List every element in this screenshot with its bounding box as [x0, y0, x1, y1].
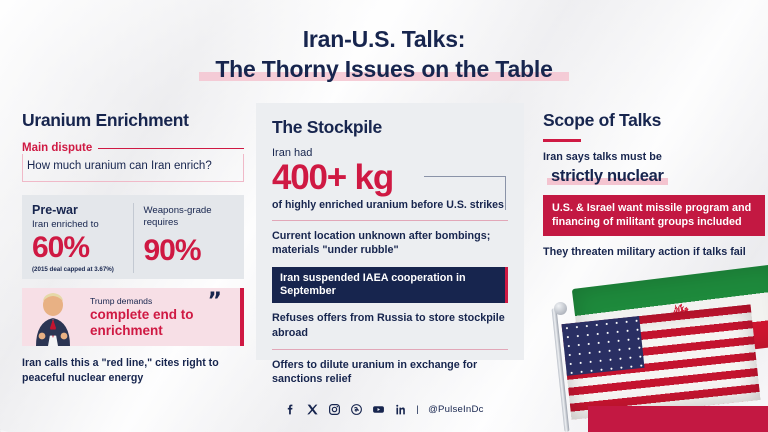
scope-heading: Scope of Talks: [543, 110, 761, 131]
trump-panel-accent-bar: [240, 288, 244, 346]
main-dispute-row: Main dispute: [22, 142, 244, 154]
title-line-2: The Thorny Issues on the Table: [215, 56, 552, 83]
scope-strong-wrapper: strictly nuclear: [551, 167, 664, 186]
main-dispute-question: How much uranium can Iran enrich?: [22, 154, 244, 182]
scope-heading-rule: [543, 139, 581, 142]
main-dispute-rule: [98, 148, 244, 149]
x-icon[interactable]: [306, 403, 319, 416]
stat-weapons-grade: Weapons-grade requires 90%: [133, 203, 245, 273]
column-stockpile: The Stockpile Iran had 400+ kg of highly…: [256, 103, 524, 360]
stat-weapons-grade-value: 90%: [144, 235, 235, 267]
stat-prewar: Pre-war Iran enriched to 60% (2015 deal …: [22, 203, 133, 273]
scope-lead: Iran says talks must be: [543, 151, 761, 163]
stockpile-item-0: Current location unknown after bombings;…: [272, 229, 508, 258]
column-uranium-enrichment: Uranium Enrichment Main dispute How much…: [22, 110, 244, 385]
footer-social-bar: | @PulseInDc: [0, 403, 768, 416]
stockpile-separator-2: [272, 349, 508, 350]
stockpile-item-1-text: Iran suspended IAEA cooperation in Septe…: [280, 272, 466, 297]
stat-prewar-key: Pre-war: [32, 203, 123, 218]
trump-demands-value: complete end to enrichment: [90, 307, 218, 338]
threads-icon[interactable]: [350, 403, 363, 416]
footer-divider: |: [416, 404, 419, 415]
linkedin-icon[interactable]: [394, 403, 407, 416]
stat-weapons-grade-sub: Weapons-grade requires: [144, 205, 235, 229]
facebook-icon[interactable]: [284, 403, 297, 416]
main-dispute-label: Main dispute: [22, 142, 92, 154]
column-scope-of-talks: Scope of Talks Iran says talks must be s…: [543, 110, 761, 260]
stockpile-separator: [272, 220, 508, 221]
scope-last-text: They threaten military action if talks f…: [543, 245, 761, 259]
trump-demands-label: Trump demands: [90, 296, 218, 306]
youtube-icon[interactable]: [372, 403, 385, 416]
scope-red-box: U.S. & Israel want missile program and f…: [543, 195, 765, 236]
stat-prewar-sub: Iran enriched to: [32, 219, 123, 231]
us-flag-canton: [562, 316, 645, 376]
stockpile-item-1-highlighted: Iran suspended IAEA cooperation in Septe…: [272, 267, 508, 304]
title-line-1: Iran-U.S. Talks:: [0, 26, 768, 53]
stockpile-bracket-line: [424, 176, 506, 210]
stockpile-item-1-accent-bar: [505, 267, 508, 304]
iran-red-line-text: Iran calls this a "red line," cites righ…: [22, 356, 244, 384]
instagram-icon[interactable]: [328, 403, 341, 416]
stockpile-heading: The Stockpile: [272, 117, 508, 138]
flag-pole-finial: [554, 302, 567, 315]
stockpile-big-number-row: 400+ kg: [272, 160, 508, 195]
trump-quote-panel: ” Trump demands complete end to enrichme…: [22, 288, 244, 346]
quote-mark-icon: ”: [208, 291, 222, 313]
stat-prewar-value: 60%: [32, 232, 123, 264]
page-title: Iran-U.S. Talks: The Thorny Issues on th…: [0, 26, 768, 83]
stockpile-item-2: Refuses offers from Russia to store stoc…: [272, 311, 508, 340]
scope-strong-text: strictly nuclear: [551, 167, 664, 185]
footer-handle[interactable]: @PulseInDc: [428, 404, 483, 415]
trump-photo: [22, 288, 84, 346]
title-line-2-wrapper: The Thorny Issues on the Table: [215, 56, 552, 83]
stat-prewar-note: (2015 deal capped at 3.67%): [32, 266, 123, 273]
enrichment-stats: Pre-war Iran enriched to 60% (2015 deal …: [22, 195, 244, 279]
uranium-heading: Uranium Enrichment: [22, 110, 244, 131]
stockpile-item-3: Offers to dilute uranium in exchange for…: [272, 358, 508, 387]
